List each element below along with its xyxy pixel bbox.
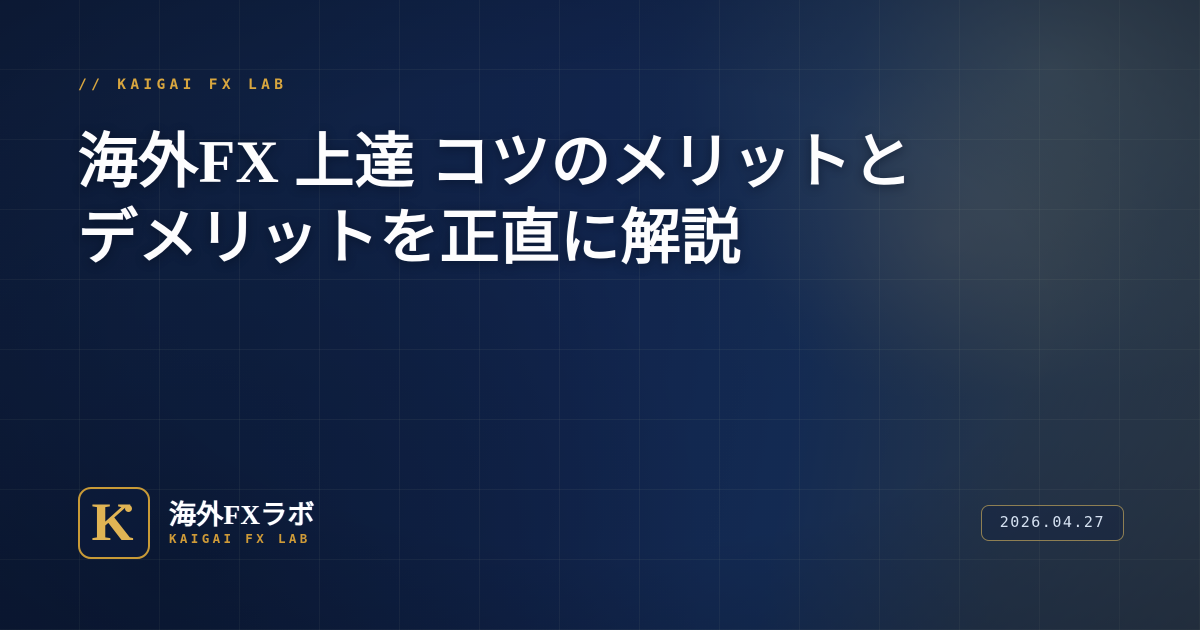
brand-text-block: 海外FXラボ KAIGAI FX LAB — [169, 501, 315, 546]
card-footer: K 海外FXラボ KAIGAI FX LAB 2026.04.27 — [78, 487, 1124, 559]
brand-name-ja: 海外FXラボ — [169, 501, 315, 529]
brand-name-en: KAIGAI FX LAB — [169, 533, 315, 546]
logo-letter: K — [91, 495, 133, 549]
page-title: 海外FX 上達 コツのメリットとデメリットを正直に解説 — [78, 124, 913, 276]
brand-lockup: K 海外FXラボ KAIGAI FX LAB — [78, 487, 315, 559]
og-image-card: // KAIGAI FX LAB 海外FX 上達 コツのメリットとデメリットを正… — [0, 0, 1200, 630]
logo-mark: K — [78, 487, 150, 559]
eyebrow-label: // KAIGAI FX LAB — [78, 78, 1124, 93]
card-content: // KAIGAI FX LAB 海外FX 上達 コツのメリットとデメリットを正… — [0, 0, 1200, 630]
content-spacer — [78, 276, 1124, 487]
date-badge: 2026.04.27 — [981, 505, 1124, 541]
dot-accent-icon — [125, 505, 132, 512]
